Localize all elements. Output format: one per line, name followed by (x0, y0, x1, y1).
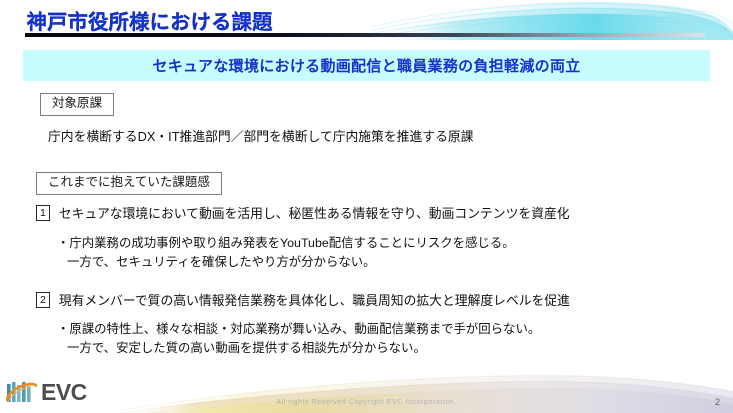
issue-detail-1: ・庁内業務の成功事例や取り組み発表をYouTube配信することにリスクを感じる。… (57, 234, 515, 272)
subtitle-banner-text: セキュアな環境における動画配信と職員業務の負担軽減の両立 (152, 55, 580, 76)
issue-detail-2-line-2: 一方で、安定した質の高い動画を提供する相談先が分からない。 (57, 339, 540, 358)
target-description: 庁内を横断するDX・IT推進部門／部門を横断して庁内施策を推進する原課 (48, 128, 473, 145)
issue-detail-1-line-2: 一方で、セキュリティを確保したやり方が分からない。 (57, 253, 515, 272)
title-underline-rule (25, 33, 705, 37)
subtitle-banner: セキュアな環境における動画配信と職員業務の負担軽減の両立 (23, 50, 710, 81)
issue-heading-2: 現有メンバーで質の高い情報発信業務を具体化し、職員周知の拡大と理解度レベルを促進 (59, 290, 570, 309)
issue-detail-2-line-1: ・原課の特性上、様々な相談・対応業務が舞い込み、動画配信業務まで手が回らない。 (57, 320, 540, 339)
section-label-issues: これまでに抱えていた課題感 (36, 172, 222, 195)
issue-item-2: 2 現有メンバーで質の高い情報発信業務を具体化し、職員周知の拡大と理解度レベルを… (36, 290, 570, 309)
issue-detail-2: ・原課の特性上、様々な相談・対応業務が舞い込み、動画配信業務まで手が回らない。 … (57, 320, 540, 358)
issue-item-1: 1 セキュアな環境において動画を活用し、秘匿性ある情報を守り、動画コンテンツを資… (36, 203, 570, 222)
section-label-target: 対象原課 (40, 93, 114, 116)
issue-heading-1: セキュアな環境において動画を活用し、秘匿性ある情報を守り、動画コンテンツを資産化 (59, 203, 570, 222)
slide-canvas: 神戸市役所様における課題 セキュアな環境における動画配信と職員業務の負担軽減の両… (0, 0, 733, 413)
issue-number-2: 2 (36, 292, 50, 308)
copyright-text: All rights Reserved Copyright EVC Incorp… (0, 399, 733, 406)
page-title: 神戸市役所様における課題 (27, 6, 273, 35)
issue-detail-1-line-1: ・庁内業務の成功事例や取り組み発表をYouTube配信することにリスクを感じる。 (57, 234, 515, 253)
page-number: 2 (715, 397, 720, 407)
issue-number-1: 1 (36, 205, 50, 221)
